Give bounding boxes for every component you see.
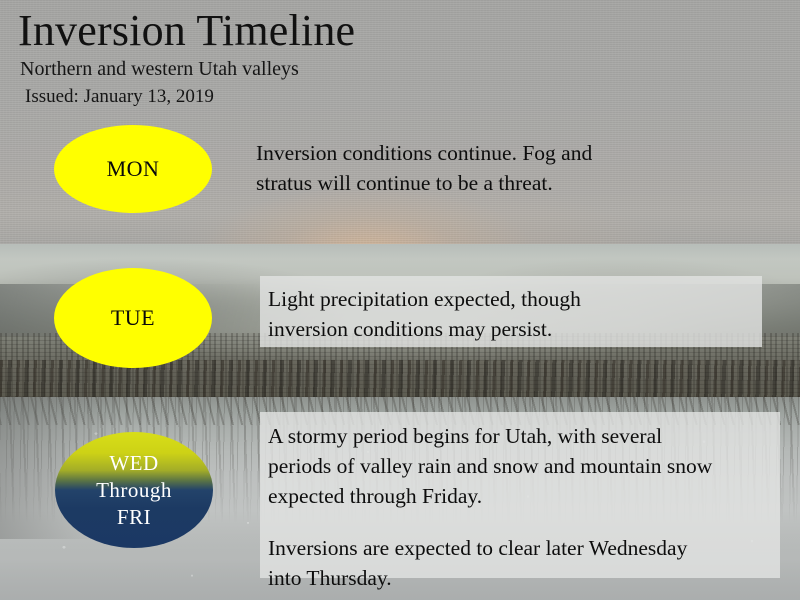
poster-header: Inversion Timeline Northern and western … [18,6,355,109]
forecast-paragraph-1: A stormy period begins for Utah, with se… [268,421,770,511]
day-badge-wed-line-2: Through [96,478,172,502]
issued-date: Issued: January 13, 2019 [18,85,355,109]
paragraph-spacer [268,511,770,533]
day-badge-mon-label: MON [107,156,160,182]
forecast-text-tue-line-1: Light precipitation expected, though [268,284,752,314]
forecast-p1-line-2: periods of valley rain and snow and moun… [268,451,770,481]
forecast-text-mon-line-1: Inversion conditions continue. Fog and [256,138,726,168]
day-badge-mon: MON [54,125,212,213]
forecast-p2-line-2: into Thursday. [268,563,770,593]
inversion-timeline-poster: Inversion Timeline Northern and western … [0,0,800,600]
forecast-text-tue-line-2: inversion conditions may persist. [268,314,752,344]
forecast-text-mon: Inversion conditions continue. Fog and s… [256,138,726,198]
day-badge-wed-label-group: WED Through FRI [96,450,172,531]
forecast-p1-line-1: A stormy period begins for Utah, with se… [268,421,770,451]
day-badge-tue-label: TUE [111,305,155,331]
day-badge-wed-line-1: WED [109,451,158,475]
page-subtitle: Northern and western Utah valleys [18,57,355,82]
day-badge-wed-line-3: FRI [117,505,151,529]
forecast-p2-line-1: Inversions are expected to clear later W… [268,533,770,563]
forecast-paragraph-2: Inversions are expected to clear later W… [268,533,770,593]
forecast-text-mon-line-2: stratus will continue to be a threat. [256,168,726,198]
forecast-text-panel-wed-fri: A stormy period begins for Utah, with se… [260,412,780,578]
day-badge-tue: TUE [54,268,212,368]
forecast-p1-line-3: expected through Friday. [268,481,770,511]
forecast-text-panel-tue: Light precipitation expected, though inv… [260,276,762,347]
page-title: Inversion Timeline [18,6,355,56]
day-badge-wed-through-fri: WED Through FRI [55,432,213,548]
